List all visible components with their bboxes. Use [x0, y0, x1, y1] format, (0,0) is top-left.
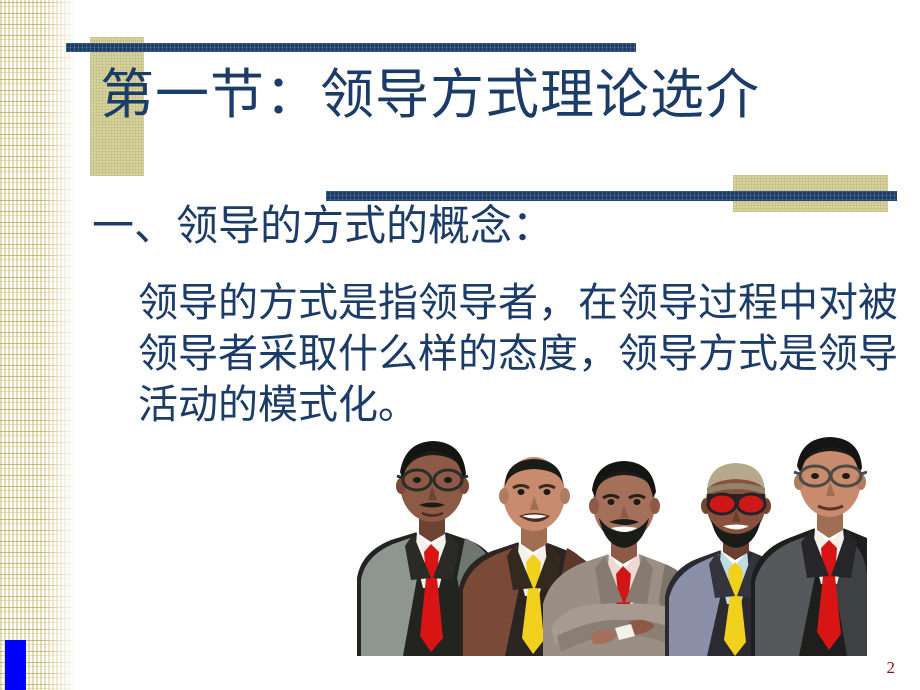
- body-paragraph: 领导的方式是指领导者，在领导过程中对被领导者采取什么样的态度，领导方式是领导活动…: [138, 278, 918, 431]
- slide-title: 第一节：领导方式理论选介: [100, 68, 910, 122]
- five-businessmen-illustration: [347, 428, 867, 656]
- navy-rule-subtitle: [326, 191, 897, 201]
- blue-marker-block: [5, 640, 26, 690]
- navy-rule-top: [66, 43, 636, 52]
- left-texture-band: [0, 0, 73, 690]
- slide-canvas: 第一节：领导方式理论选介 一、领导的方式的概念： 领导的方式是指领导者，在领导过…: [0, 0, 920, 690]
- section-heading: 一、领导的方式的概念：: [92, 205, 554, 247]
- page-number: 2: [887, 658, 896, 678]
- businessmen-clipart-svg: [347, 428, 867, 656]
- person-5: [751, 437, 867, 656]
